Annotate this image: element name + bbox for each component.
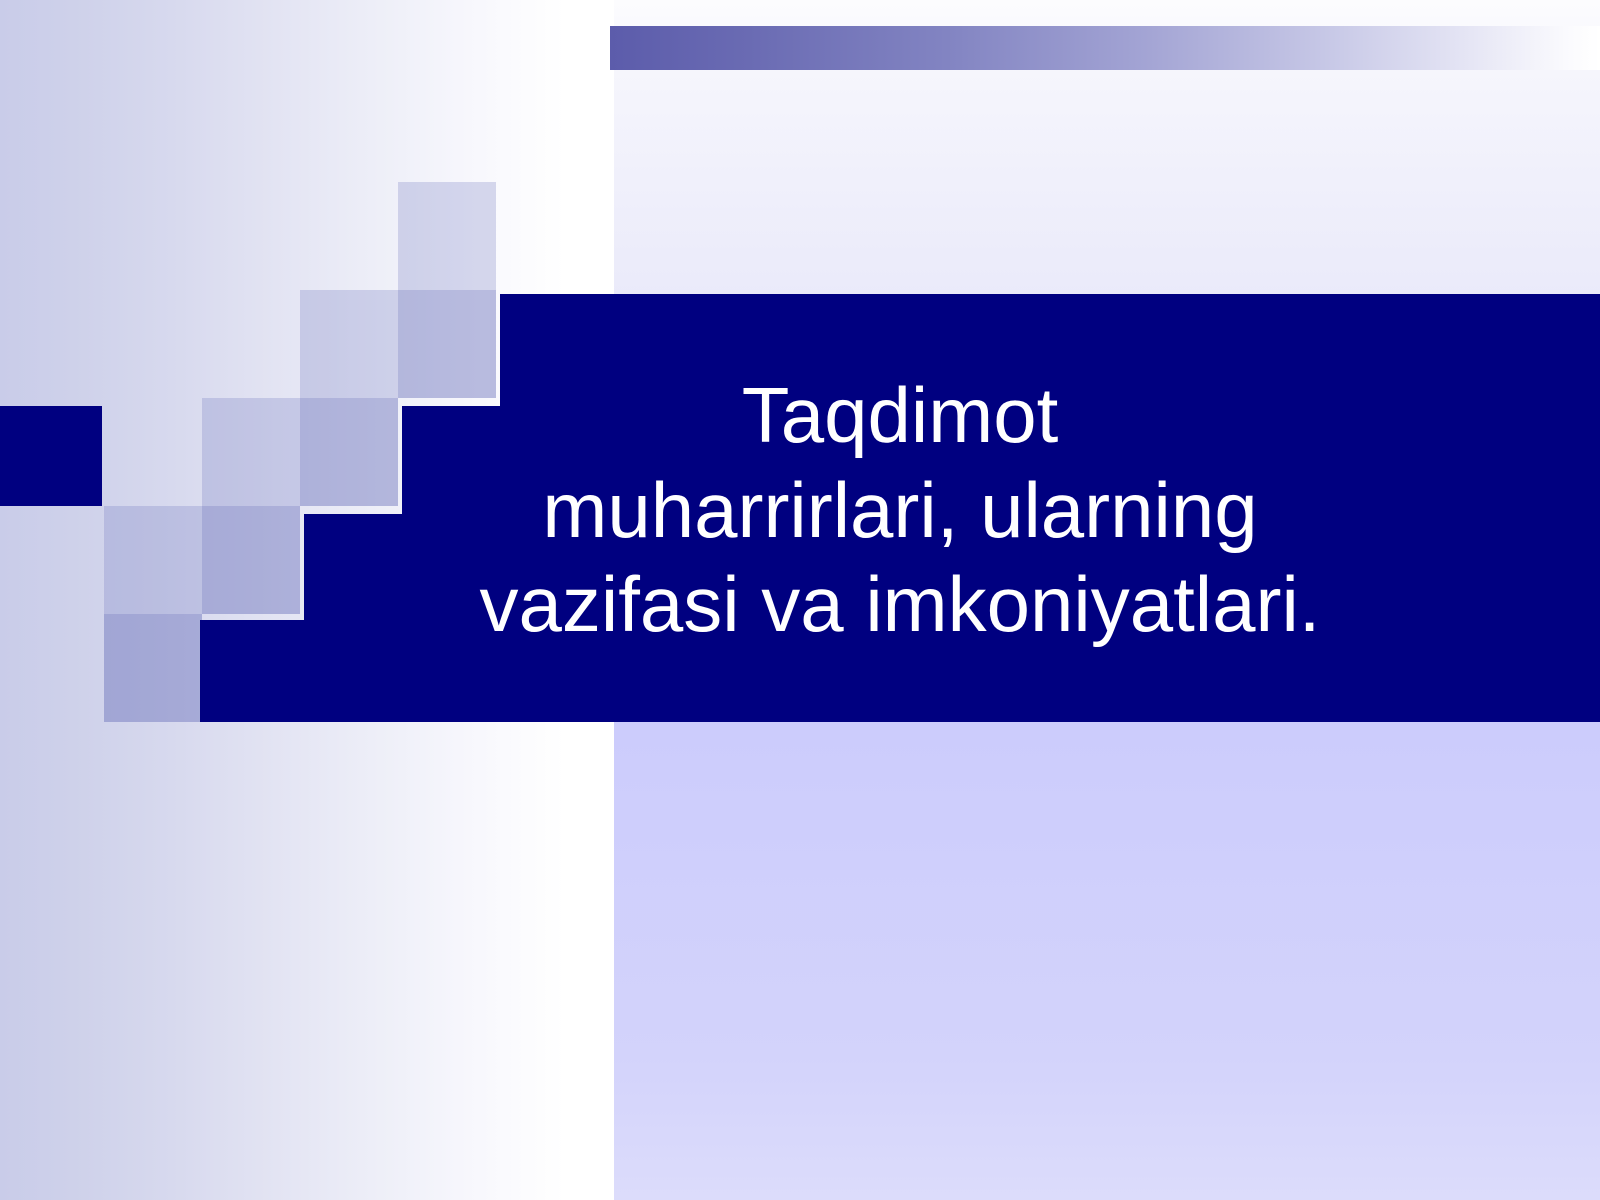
mosaic-square-1 [398, 182, 496, 290]
slide-title-line-2: muharrirlari, ularning [480, 463, 1321, 557]
presentation-slide: Taqdimotmuharrirlari, ularningvazifasi v… [0, 0, 1600, 1200]
slide-title-text: Taqdimotmuharrirlari, ularningvazifasi v… [480, 368, 1321, 651]
slide-title-line-3: vazifasi va imkoniyatlari. [480, 557, 1321, 651]
mosaic-square-6 [104, 506, 202, 614]
slide-title-line-1: Taqdimot [480, 368, 1321, 462]
navy-accent-block [0, 406, 102, 506]
mosaic-square-8 [104, 614, 202, 722]
slide-title: Taqdimotmuharrirlari, ularningvazifasi v… [200, 300, 1600, 720]
